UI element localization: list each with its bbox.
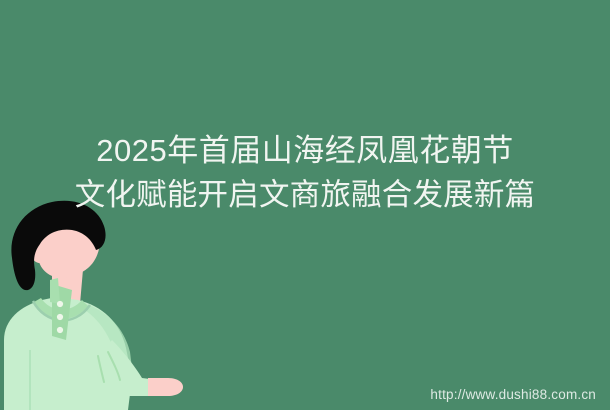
headline-line-2: 文化赋能开启文商旅融合发展新篇	[0, 173, 610, 217]
button-2	[57, 314, 63, 320]
person-illustration-svg	[0, 200, 210, 410]
headline-line-1: 2025年首届山海经凤凰花朝节	[0, 129, 610, 173]
watermark-url: http://www.dushi88.com.cn	[430, 387, 596, 402]
hand-shape	[148, 378, 183, 396]
button-1	[57, 301, 63, 307]
person-illustration	[0, 200, 210, 410]
promo-banner: 2025年首届山海经凤凰花朝节 文化赋能开启文商旅融合发展新篇 http://w…	[0, 0, 610, 410]
button-3	[57, 327, 63, 333]
headline: 2025年首届山海经凤凰花朝节 文化赋能开启文商旅融合发展新篇	[0, 129, 610, 217]
